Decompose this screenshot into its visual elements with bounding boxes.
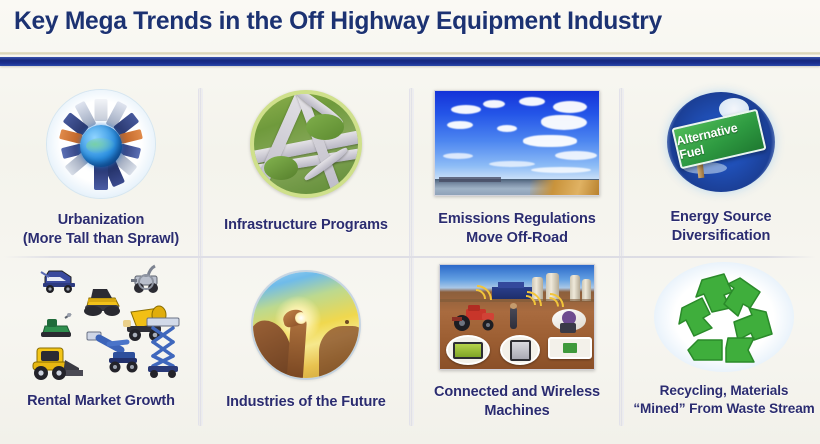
cell-urbanization[interactable]: Urbanization (More Tall than Sprawl) bbox=[8, 90, 194, 249]
slide-canvas: Key Mega Trends in the Off Highway Equip… bbox=[0, 0, 820, 444]
boom-lift-icon bbox=[83, 324, 141, 381]
cell-infrastructure[interactable]: Infrastructure Programs bbox=[208, 90, 404, 235]
title-rule-tan bbox=[0, 52, 820, 55]
walk-behind-saw-icon bbox=[125, 262, 169, 303]
rental-market-art bbox=[21, 262, 181, 384]
infrastructure-art bbox=[250, 90, 362, 198]
emissions-art bbox=[434, 90, 600, 196]
skid-steer-icon bbox=[25, 340, 87, 389]
page-title: Key Mega Trends in the Off Highway Equip… bbox=[14, 7, 792, 36]
alternative-fuel-sign-image: Alternative Fuel bbox=[667, 92, 775, 192]
cell-caption: Energy Source Diversification bbox=[670, 208, 771, 246]
display-callout-3 bbox=[548, 337, 592, 359]
cell-industries-future[interactable]: Industries of the Future bbox=[208, 272, 404, 412]
cell-caption: Rental Market Growth bbox=[27, 392, 175, 411]
title-rule-blue bbox=[0, 57, 820, 66]
cell-connected-wireless[interactable]: Connected and Wireless Machines bbox=[418, 264, 616, 421]
energy-source-art: Alternative Fuel bbox=[667, 92, 775, 192]
connected-farm-image bbox=[439, 264, 595, 370]
recycle-icon bbox=[668, 268, 780, 366]
cell-caption: Industries of the Future bbox=[226, 393, 386, 412]
display-callout-2 bbox=[500, 335, 540, 365]
cell-emissions[interactable]: Emissions Regulations Move Off-Road bbox=[418, 90, 616, 248]
sign-label: Alternative Fuel bbox=[675, 116, 763, 162]
blue-sky-clouds-image bbox=[434, 90, 600, 196]
urbanization-art bbox=[47, 90, 155, 198]
cell-energy-source[interactable]: Alternative Fuel Energy Source Diversifi… bbox=[628, 92, 814, 246]
grid-divider-horizontal bbox=[4, 256, 816, 258]
cell-caption: Infrastructure Programs bbox=[224, 216, 388, 235]
cell-caption: Emissions Regulations Move Off-Road bbox=[438, 210, 595, 248]
connected-wireless-art bbox=[439, 264, 595, 370]
construction-equipment-collage-image bbox=[21, 262, 181, 384]
scissor-lift-icon bbox=[143, 316, 183, 383]
recycling-art bbox=[654, 262, 794, 372]
cell-caption: Urbanization (More Tall than Sprawl) bbox=[23, 211, 179, 249]
sand-band bbox=[530, 180, 599, 195]
cell-recycling[interactable]: Recycling, Materials “Mined” From Waste … bbox=[628, 262, 820, 417]
globe-icon bbox=[80, 125, 122, 167]
cell-caption: Recycling, Materials “Mined” From Waste … bbox=[628, 382, 820, 417]
trends-grid: Urbanization (More Tall than Sprawl) bbox=[0, 76, 820, 426]
cell-caption: Connected and Wireless Machines bbox=[434, 383, 600, 421]
sunrise-figure-image bbox=[253, 272, 359, 378]
industries-future-art bbox=[253, 272, 359, 378]
highway-interchange-image bbox=[250, 90, 362, 198]
alternative-fuel-sign: Alternative Fuel bbox=[671, 109, 766, 170]
globe-with-buildings-image bbox=[47, 90, 155, 198]
display-callout-1 bbox=[446, 335, 490, 365]
cell-rental-market[interactable]: Rental Market Growth bbox=[8, 262, 194, 411]
recycling-symbol-image bbox=[654, 262, 794, 372]
